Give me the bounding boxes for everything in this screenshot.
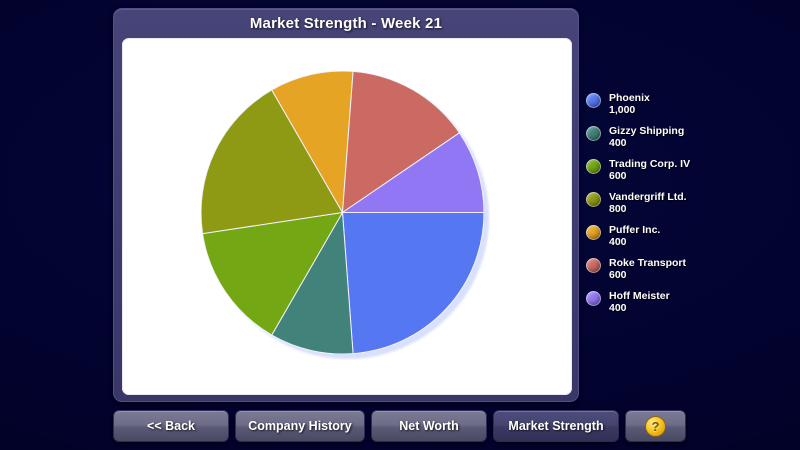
page-title: Market Strength - Week 21 xyxy=(114,15,578,32)
button-label: << Back xyxy=(147,419,195,433)
legend-company-value: 600 xyxy=(609,170,690,182)
legend-item[interactable]: Gizzy Shipping400 xyxy=(586,125,792,153)
legend-text: Vandergriff Ltd.800 xyxy=(609,191,687,216)
pie-chart-svg xyxy=(201,71,484,354)
legend-color-swatch-icon xyxy=(586,192,601,207)
company-history-button[interactable]: Company History xyxy=(235,410,365,442)
legend-company-name: Trading Corp. IV xyxy=(609,158,690,170)
legend-color-swatch-icon xyxy=(586,225,601,240)
button-label: Net Worth xyxy=(399,419,459,433)
help-button[interactable]: ? xyxy=(625,410,686,442)
legend-text: Trading Corp. IV600 xyxy=(609,158,690,183)
legend-company-name: Phoenix xyxy=(609,92,650,104)
market-strength-dialog: Market Strength - Week 21 xyxy=(113,8,579,402)
legend-color-swatch-icon xyxy=(586,126,601,141)
legend-item[interactable]: Trading Corp. IV600 xyxy=(586,158,792,186)
legend-company-name: Puffer Inc. xyxy=(609,224,660,236)
legend-text: Gizzy Shipping400 xyxy=(609,125,684,150)
legend-item[interactable]: Roke Transport600 xyxy=(586,257,792,285)
pie-chart-panel xyxy=(122,38,572,395)
pie-slice[interactable] xyxy=(343,212,485,353)
legend-company-name: Vandergriff Ltd. xyxy=(609,191,687,203)
legend-company-value: 400 xyxy=(609,302,670,314)
legend-company-name: Gizzy Shipping xyxy=(609,125,684,137)
pie-chart xyxy=(201,71,493,363)
market-strength-button[interactable]: Market Strength xyxy=(493,410,619,442)
legend-color-swatch-icon xyxy=(586,291,601,306)
legend-company-value: 1,000 xyxy=(609,104,650,116)
question-mark-coin-icon: ? xyxy=(645,416,666,437)
button-label: Company History xyxy=(248,419,352,433)
legend-item[interactable]: Phoenix1,000 xyxy=(586,92,792,120)
legend-company-value: 600 xyxy=(609,269,686,281)
legend-item[interactable]: Vandergriff Ltd.800 xyxy=(586,191,792,219)
legend-item[interactable]: Hoff Meister400 xyxy=(586,290,792,318)
legend-text: Hoff Meister400 xyxy=(609,290,670,315)
button-label: Market Strength xyxy=(508,419,603,433)
legend-company-value: 800 xyxy=(609,203,687,215)
legend-company-name: Hoff Meister xyxy=(609,290,670,302)
button-bar: << BackCompany HistoryNet WorthMarket St… xyxy=(113,410,686,442)
legend-color-swatch-icon xyxy=(586,93,601,108)
net-worth-button[interactable]: Net Worth xyxy=(371,410,487,442)
legend-company-value: 400 xyxy=(609,236,660,248)
legend-text: Phoenix1,000 xyxy=(609,92,650,117)
legend-company-name: Roke Transport xyxy=(609,257,686,269)
legend-color-swatch-icon xyxy=(586,159,601,174)
legend: Phoenix1,000Gizzy Shipping400Trading Cor… xyxy=(586,92,792,323)
game-screen: Market Strength - Week 21 Phoenix1,000Gi… xyxy=(0,0,800,450)
legend-item[interactable]: Puffer Inc.400 xyxy=(586,224,792,252)
back-button[interactable]: << Back xyxy=(113,410,229,442)
legend-text: Roke Transport600 xyxy=(609,257,686,282)
legend-text: Puffer Inc.400 xyxy=(609,224,660,249)
legend-color-swatch-icon xyxy=(586,258,601,273)
legend-company-value: 400 xyxy=(609,137,684,149)
